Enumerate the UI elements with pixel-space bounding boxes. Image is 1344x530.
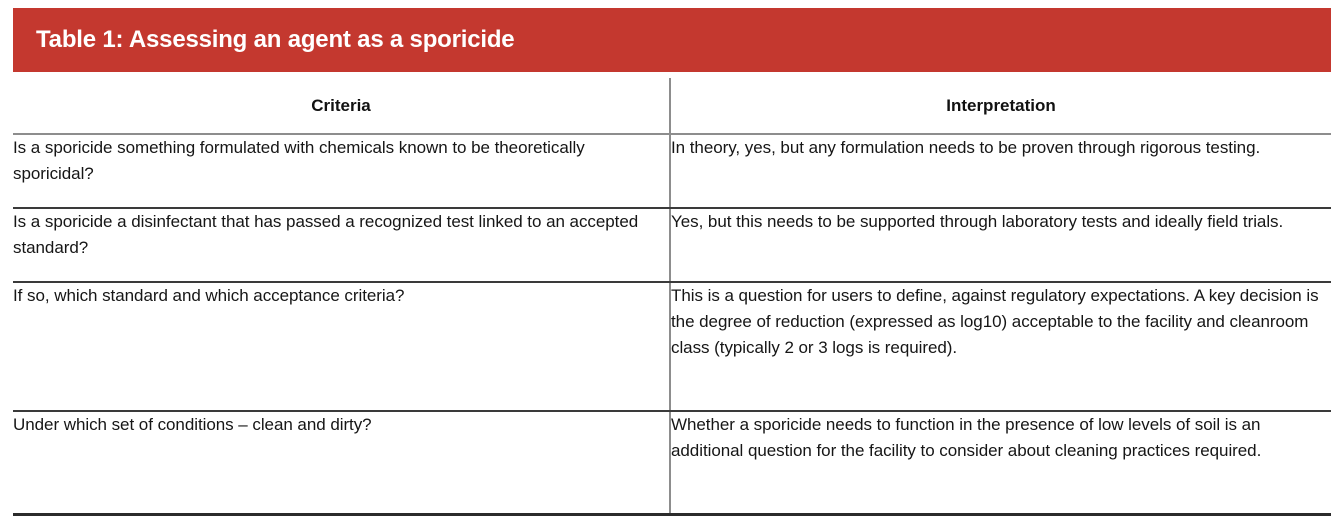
cell-interpretation: In theory, yes, but any formulation need… [670,134,1331,208]
table-row: Under which set of conditions – clean an… [13,411,1331,514]
cell-interpretation-text: Whether a sporicide needs to function in… [671,412,1331,464]
table-figure: Table 1: Assessing an agent as a sporici… [0,0,1344,530]
cell-interpretation-text: In theory, yes, but any formulation need… [671,135,1331,161]
table-row: Is a sporicide something formulated with… [13,134,1331,208]
cell-interpretation: Whether a sporicide needs to function in… [670,411,1331,514]
cell-interpretation-text: Yes, but this needs to be supported thro… [671,209,1331,235]
cell-criteria-text: Is a sporicide something formulated with… [13,135,669,187]
table-row: If so, which standard and which acceptan… [13,282,1331,411]
column-header-criteria: Criteria [13,78,670,134]
cell-criteria-text: Under which set of conditions – clean an… [13,412,669,438]
table-title-banner: Table 1: Assessing an agent as a sporici… [13,8,1331,72]
cell-interpretation: Yes, but this needs to be supported thro… [670,208,1331,282]
cell-criteria: Is a sporicide a disinfectant that has p… [13,208,670,282]
cell-criteria: If so, which standard and which acceptan… [13,282,670,411]
table-header-row: Criteria Interpretation [13,78,1331,134]
column-header-interpretation-label: Interpretation [671,95,1331,116]
cell-criteria-text: Is a sporicide a disinfectant that has p… [13,209,669,261]
table-title: Table 1: Assessing an agent as a sporici… [13,27,514,53]
cell-interpretation-text: This is a question for users to define, … [671,283,1331,360]
cell-interpretation: This is a question for users to define, … [670,282,1331,411]
column-header-criteria-label: Criteria [13,95,669,116]
sporicide-criteria-table: Criteria Interpretation Is a sporicide s… [13,78,1331,516]
table-row: Is a sporicide a disinfectant that has p… [13,208,1331,282]
column-header-interpretation: Interpretation [670,78,1331,134]
cell-criteria: Under which set of conditions – clean an… [13,411,670,514]
cell-criteria: Is a sporicide something formulated with… [13,134,670,208]
cell-criteria-text: If so, which standard and which acceptan… [13,283,669,309]
